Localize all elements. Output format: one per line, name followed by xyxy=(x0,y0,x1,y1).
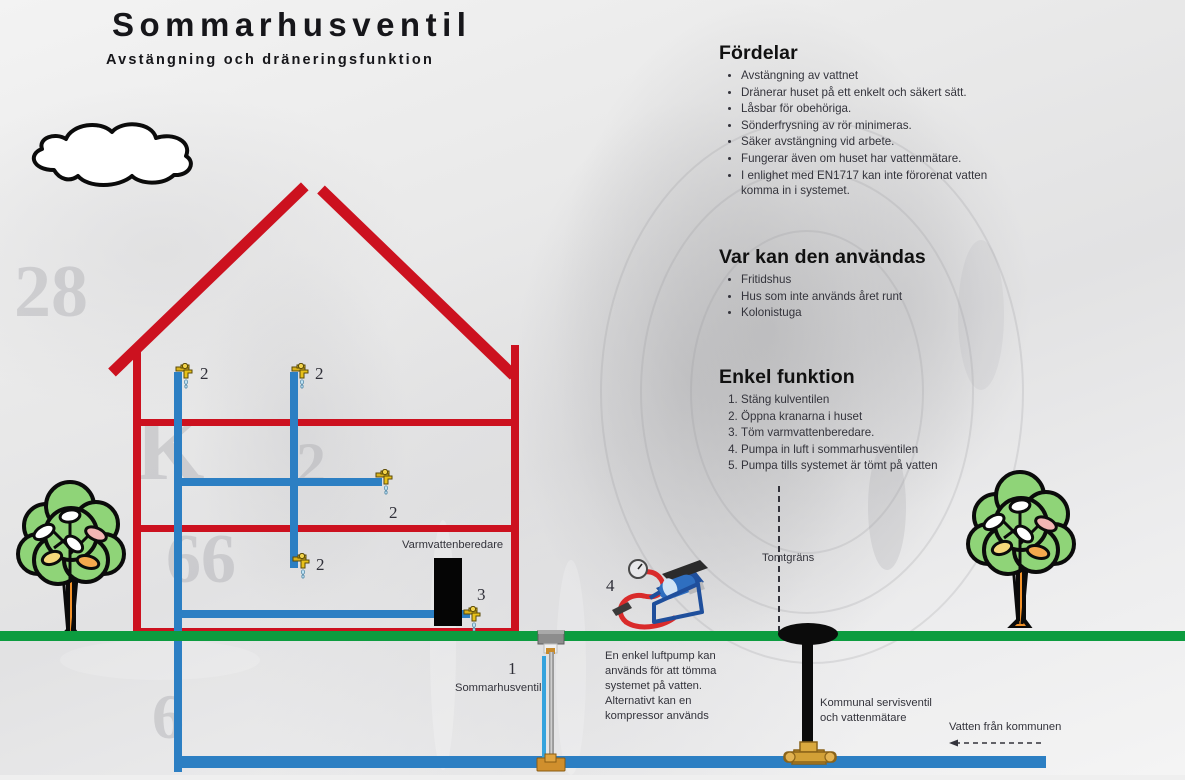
pump-note-line: används för att tömma xyxy=(605,664,725,679)
pipe-service-main xyxy=(174,756,806,768)
step-number: 2 xyxy=(389,503,398,523)
ground-line xyxy=(0,631,1185,641)
pump-note-line: En enkel luftpump kan xyxy=(605,649,725,664)
tree-left-icon xyxy=(12,462,128,638)
advantages-list: Avstängning av vattnet Dränerar huset på… xyxy=(719,68,1019,199)
step-number: 2 xyxy=(200,364,209,384)
background-emboss: 2 xyxy=(296,430,326,499)
cloud-icon xyxy=(22,118,200,190)
list-item: Fungerar även om huset har vattenmätare. xyxy=(741,151,1019,167)
background-streak xyxy=(60,640,260,680)
wall-left xyxy=(133,345,141,637)
air-pump-icon xyxy=(604,552,716,634)
pump-note: En enkel luftpump kan används för att tö… xyxy=(605,649,725,724)
municipal-valve-label-line: Kommunal servisventil xyxy=(820,696,932,711)
usage-section: Var kan den användas Fritidshus Hus som … xyxy=(719,246,1019,322)
advantages-section: Fördelar Avstängning av vattnet Dränerar… xyxy=(719,42,1019,200)
list-item: Kolonistuga xyxy=(741,305,1019,321)
pump-note-line: systemet på vatten. xyxy=(605,679,725,694)
list-item: Avstängning av vattnet xyxy=(741,68,1019,84)
tree-right-icon xyxy=(962,452,1078,628)
step-number: 2 xyxy=(315,364,324,384)
pump-note-line: kompressor används xyxy=(605,709,725,724)
floor-upper xyxy=(133,419,519,426)
property-boundary-label: Tomtgräns xyxy=(762,551,814,566)
municipal-valve-label: Kommunal servisventil och vattenmätare xyxy=(820,696,932,726)
step-number: 2 xyxy=(316,555,325,575)
municipal-valve-label-line: och vattenmätare xyxy=(820,711,932,726)
list-item: I enlighet med EN1717 kan inte förorenat… xyxy=(741,168,1019,199)
list-item: Hus som inte används året runt xyxy=(741,289,1019,305)
water-source-label: Vatten från kommunen xyxy=(949,720,1061,735)
list-item: Dränerar huset på ett enkelt och säkert … xyxy=(741,85,1019,101)
advantages-heading: Fördelar xyxy=(719,42,1019,65)
faucet-icon xyxy=(174,363,200,389)
summer-house-valve xyxy=(533,630,569,775)
list-item: Töm varmvattenberedare. xyxy=(741,425,1019,441)
list-item: Låsbar för obehöriga. xyxy=(741,101,1019,117)
usage-heading: Var kan den användas xyxy=(719,246,1019,269)
page-title: Sommarhusventil xyxy=(112,6,471,44)
floor-middle xyxy=(133,525,519,532)
water-flow-arrow xyxy=(947,735,1047,745)
usage-list: Fritidshus Hus som inte används året run… xyxy=(719,272,1019,321)
background-emboss: 28 xyxy=(14,250,88,335)
water-heater xyxy=(434,558,462,626)
faucet-icon xyxy=(290,363,316,389)
water-heater-label: Varmvattenberedare xyxy=(402,538,503,553)
list-item: Säker avstängning vid arbete. xyxy=(741,134,1019,150)
list-item: Öppna kranarna i huset xyxy=(741,409,1019,425)
faucet-icon xyxy=(291,553,317,579)
step-number: 1 xyxy=(508,659,517,679)
pump-note-line: Alternativt kan en xyxy=(605,694,725,709)
function-heading: Enkel funktion xyxy=(719,366,1019,389)
pipe-branch-middle xyxy=(174,478,382,486)
page-subtitle: Avstängning och dräneringsfunktion xyxy=(106,52,434,68)
faucet-icon xyxy=(374,469,400,495)
step-number: 4 xyxy=(606,576,615,596)
pipe-riser-main xyxy=(174,372,182,772)
summer-house-valve-label: Sommarhusventil xyxy=(455,681,541,696)
list-item: Fritidshus xyxy=(741,272,1019,288)
faucet-icon xyxy=(462,606,488,632)
list-item: Sönderfrysning av rör minimeras. xyxy=(741,118,1019,134)
list-item: Stäng kulventilen xyxy=(741,392,1019,408)
step-number: 3 xyxy=(477,585,486,605)
wall-right xyxy=(511,345,519,637)
pipe-riser-second xyxy=(290,372,298,568)
pipe-branch-ground xyxy=(174,610,470,618)
